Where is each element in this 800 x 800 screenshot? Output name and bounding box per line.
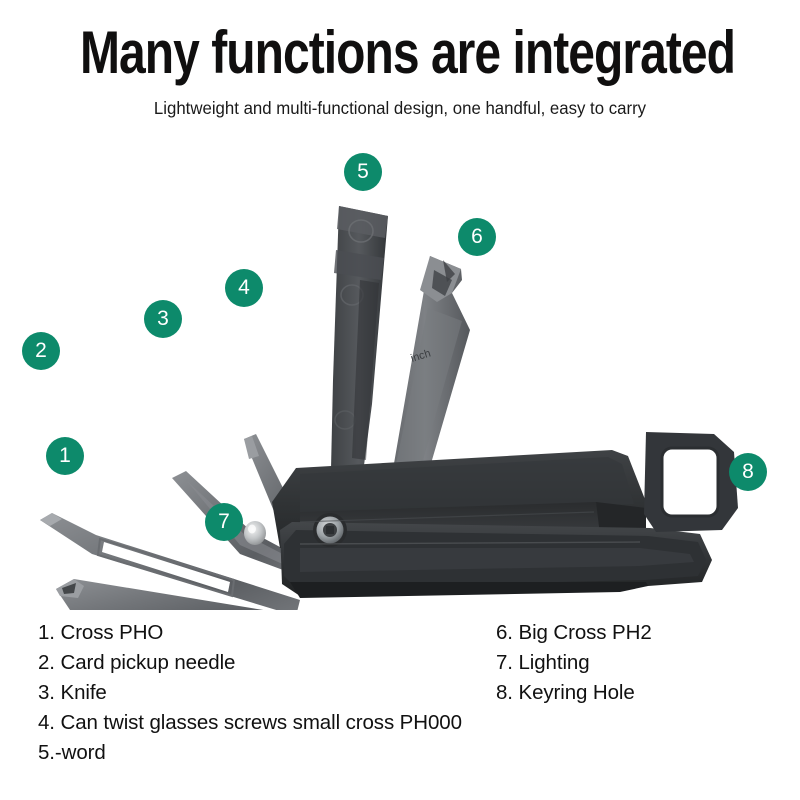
callout-badge-6[interactable]: 6 [458, 218, 496, 256]
callout-badge-label: 5 [357, 160, 369, 183]
lighting-led [244, 521, 266, 545]
feature-label: -word [55, 741, 106, 764]
feature-number: 6. [496, 621, 513, 644]
callout-badge-7[interactable]: 7 [205, 503, 243, 541]
feature-item: 2. Card pickup needle [38, 648, 462, 678]
callout-badge-4[interactable]: 4 [225, 269, 263, 307]
feature-item: 7. Lighting [496, 648, 652, 678]
feature-label: Cross PHO [55, 621, 163, 644]
callout-badge-label: 7 [218, 510, 230, 533]
callout-badge-label: 1 [59, 444, 71, 467]
feature-item: 5.-word [38, 738, 462, 768]
feature-number: 1. [38, 621, 55, 644]
callout-badge-8[interactable]: 8 [729, 453, 767, 491]
callout-badge-1[interactable]: 1 [46, 437, 84, 475]
callout-badge-label: 4 [238, 276, 250, 299]
keyring-hole [644, 430, 740, 544]
multi-tool-illustration: inch [0, 130, 800, 610]
callout-badge-3[interactable]: 3 [144, 300, 182, 338]
feature-label: Knife [55, 681, 107, 704]
feature-label: Big Cross PH2 [513, 621, 652, 644]
callout-badge-label: 3 [157, 307, 169, 330]
page-subtitle: Lightweight and multi-functional design,… [16, 96, 784, 120]
callout-badge-label: 2 [35, 339, 47, 362]
feature-item: 1. Cross PHO [38, 618, 462, 648]
product-image: inch [0, 130, 800, 610]
feature-label: Card pickup needle [55, 651, 235, 674]
feature-number: 8. [496, 681, 513, 704]
feature-label: Can twist glasses screws small cross PH0… [55, 711, 462, 734]
feature-label: Lighting [513, 651, 590, 674]
feature-label: Keyring Hole [513, 681, 635, 704]
feature-item: 6. Big Cross PH2 [496, 618, 652, 648]
feature-item: 8. Keyring Hole [496, 678, 652, 708]
feature-number: 7. [496, 651, 513, 674]
feature-list: 1. Cross PHO2. Card pickup needle3. Knif… [0, 618, 800, 778]
feature-number: 4. [38, 711, 55, 734]
infographic-page: Many functions are integrated Lightweigh… [0, 0, 800, 800]
feature-item: 4. Can twist glasses screws small cross … [38, 708, 462, 738]
pivot-screw [313, 513, 347, 547]
feature-number: 3. [38, 681, 55, 704]
feature-list-left-column: 1. Cross PHO2. Card pickup needle3. Knif… [38, 618, 462, 768]
callout-badge-5[interactable]: 5 [344, 153, 382, 191]
callout-badge-label: 6 [471, 225, 483, 248]
feature-number: 5. [38, 741, 55, 764]
feature-item: 3. Knife [38, 678, 462, 708]
page-title: Many functions are integrated [80, 22, 720, 84]
feature-list-right-column: 6. Big Cross PH27. Lighting8. Keyring Ho… [496, 618, 652, 708]
callout-badge-label: 8 [742, 460, 754, 483]
feature-number: 2. [38, 651, 55, 674]
callout-badge-2[interactable]: 2 [22, 332, 60, 370]
